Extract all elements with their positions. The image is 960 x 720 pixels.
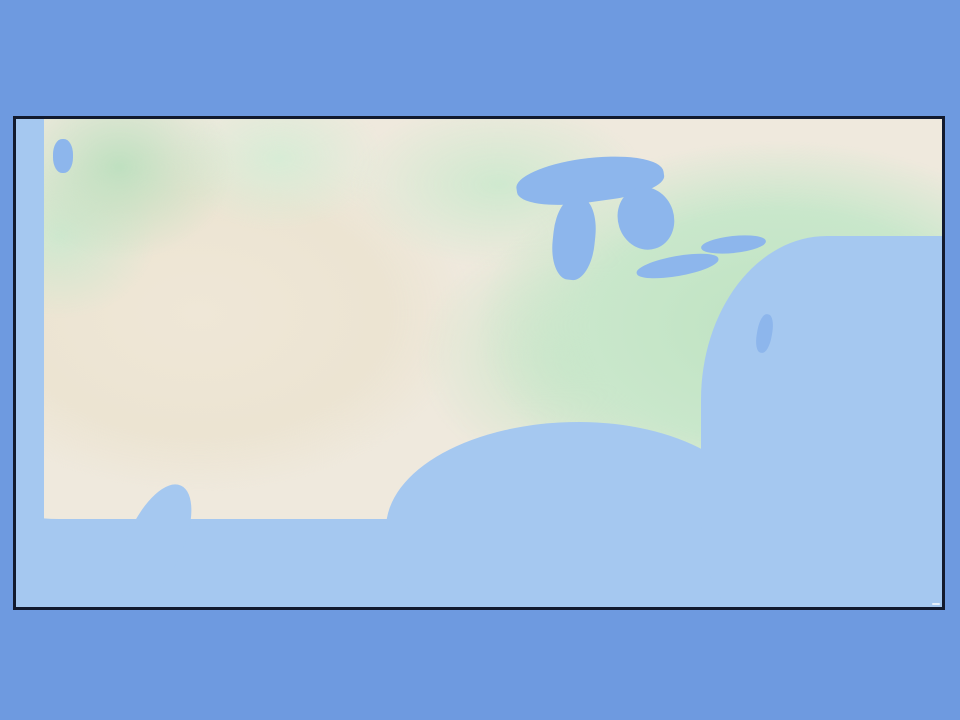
water-atlantic-ocean (701, 236, 945, 610)
map-attribution (932, 603, 940, 605)
water-pacific-ocean (13, 116, 44, 610)
slide-root (0, 0, 960, 720)
water-puget-sound (53, 139, 73, 173)
caption-block (0, 616, 960, 620)
map-frame[interactable] (13, 116, 945, 610)
map-canvas[interactable] (16, 119, 942, 607)
